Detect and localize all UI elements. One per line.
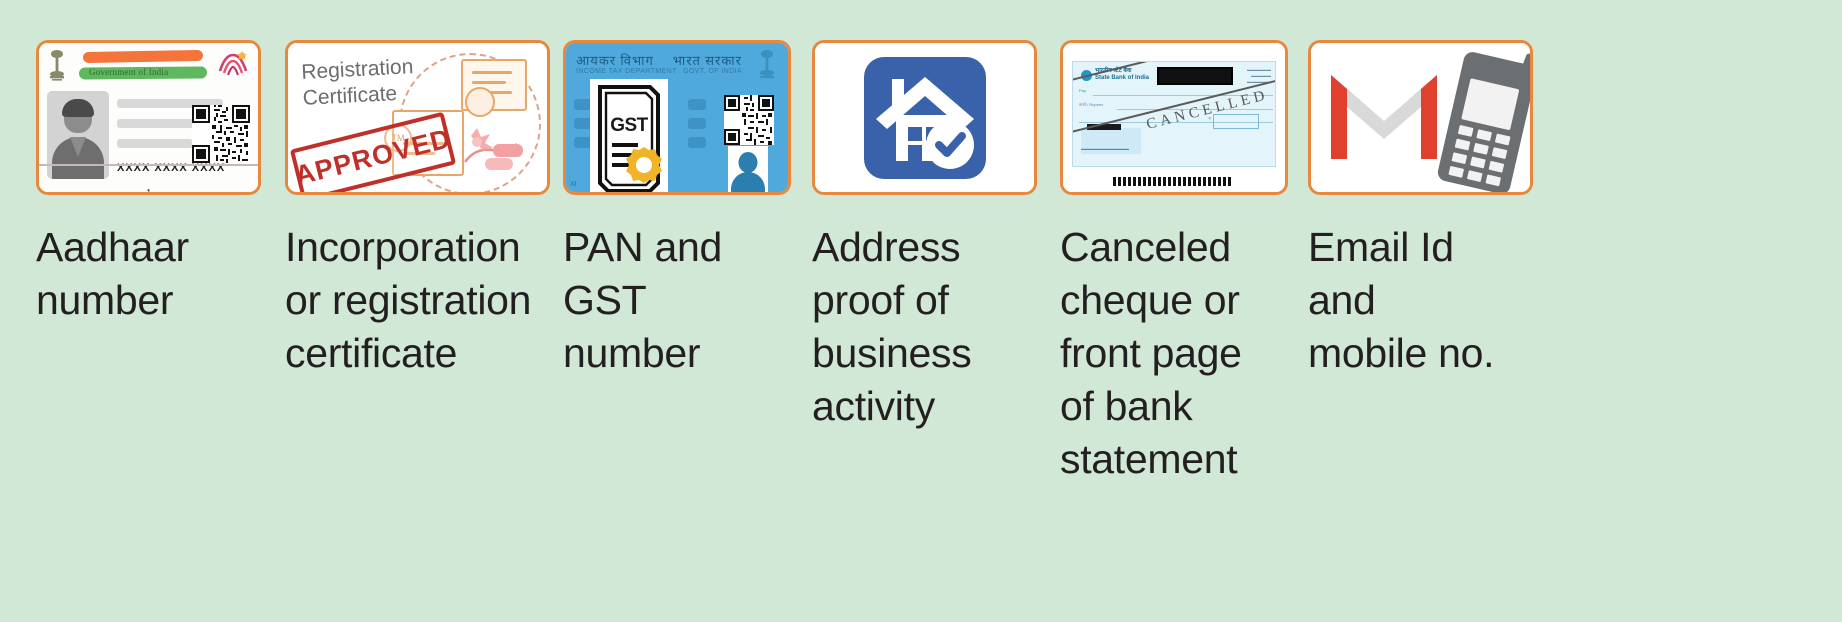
income-tax-dept-english: INCOME TAX DEPARTMENT: [576, 68, 677, 75]
india-national-emblem-icon: [756, 49, 778, 83]
cancelled-cheque-icon: भारतीय स्टेट बैंक State Bank of India ▬▬…: [1060, 40, 1288, 195]
registration-certificate-icon: TM RegistrationCertificate APPROVED: [285, 40, 550, 195]
aadhaar-card-icon: Government of India XXXX XXXX: [36, 40, 261, 195]
caption-cancelled-cheque: Canceled cheque or front page of bank st…: [1060, 221, 1288, 486]
email-mobile-icon: [1308, 40, 1533, 195]
mobile-phone-icon: [1436, 50, 1533, 195]
card-divider: [39, 164, 258, 166]
india-national-emblem-icon: [47, 49, 67, 83]
registration-certificate-title: RegistrationCertificate: [301, 54, 416, 112]
cheque-body: भारतीय स्टेट बैंक State Bank of India ▬▬…: [1072, 61, 1276, 167]
house-verified-icon: [812, 40, 1037, 195]
checklist-item-incorporation: TM RegistrationCertificate APPROVED Inco…: [285, 40, 550, 380]
check-circle-icon: [926, 121, 974, 169]
checklist-item-pan-gst: आयकर विभाग INCOME TAX DEPARTMENT भारत सर…: [563, 40, 791, 380]
govt-of-india-hindi: भारत सरकार: [673, 51, 742, 69]
caption-address-proof: Address proof of business activity: [812, 221, 1037, 433]
caption-incorporation: Incorporation or registration certificat…: [285, 221, 550, 380]
award-seal-icon: [465, 87, 495, 117]
aadhaar-header-text: Government of India: [89, 67, 168, 77]
tricolor-saffron-band: [83, 50, 203, 63]
pan-photo-placeholder: [728, 146, 768, 192]
pan-card-gst-icon: आयकर विभाग INCOME TAX DEPARTMENT भारत सर…: [563, 40, 791, 195]
micr-code-band: [1113, 177, 1233, 186]
detail-line: [117, 139, 193, 148]
gst-certificate-icon: GST: [590, 79, 668, 195]
income-tax-dept-hindi: आयकर विभाग: [576, 51, 654, 69]
right-dots-decoration: [688, 99, 706, 156]
pan-corner-text: XI: [570, 181, 577, 188]
redacted-bar: [1157, 67, 1233, 85]
documents-checklist-board: Government of India XXXX XXXX: [0, 0, 1842, 622]
checklist-item-cancelled-cheque: भारतीय स्टेट बैंक State Bank of India ▬▬…: [1060, 40, 1288, 486]
gmail-logo-icon: [1325, 65, 1443, 165]
cheque-footnote: ▬▬▬▬▬▬▬▬▬▬▬▬: [1081, 146, 1129, 151]
govt-of-india-english: GOVT. OF INDIA: [683, 68, 742, 75]
qr-code-icon: [724, 95, 774, 145]
checklist-item-email-mobile: Email Id and mobile no.: [1308, 40, 1533, 380]
detail-line: [117, 119, 203, 128]
caption-email-mobile: Email Id and mobile no.: [1308, 221, 1533, 380]
comma-mark: ,: [146, 182, 151, 188]
hand-scroll-icon: [455, 114, 533, 186]
amount-box: [1213, 114, 1259, 129]
aadhaar-logo-icon: [216, 49, 250, 79]
gst-label-text: GST: [610, 115, 648, 137]
caption-aadhaar: Aadhaar number: [36, 221, 261, 327]
qr-code-icon: [192, 105, 250, 163]
checklist-item-address-proof: Address proof of business activity: [812, 40, 1037, 433]
caption-pan-gst: PAN and GST number: [563, 221, 791, 380]
checklist-item-aadhaar: Government of India XXXX XXXX: [36, 40, 261, 327]
address-tile: [864, 57, 986, 179]
